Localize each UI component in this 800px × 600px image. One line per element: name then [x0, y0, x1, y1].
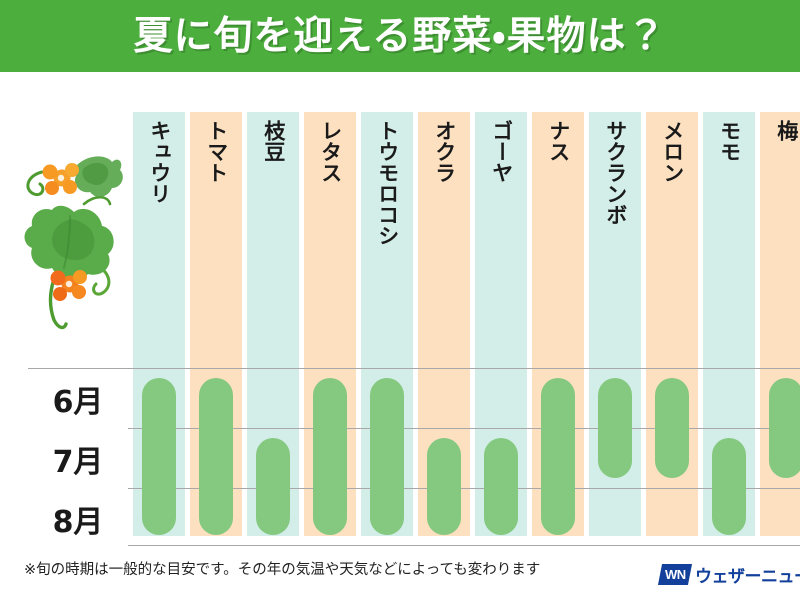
bar-momo[interactable]: [712, 438, 746, 535]
wn-logo-mark: WN: [658, 564, 692, 585]
wn-logo-initials: WN: [665, 567, 686, 582]
bar-edamame[interactable]: [256, 438, 290, 535]
page-title: 夏に旬を迎える野菜・果物は？: [0, 0, 800, 66]
bar-melon[interactable]: [655, 378, 689, 478]
column-label: ゴーヤ: [475, 120, 527, 440]
bar-lettuce[interactable]: [313, 378, 347, 535]
bar-nasu[interactable]: [541, 378, 575, 535]
infographic-page: 夏に旬を迎える野菜・果物は？: [0, 0, 800, 600]
column-label: オクラ: [418, 120, 470, 440]
bar-okra[interactable]: [427, 438, 461, 535]
header-scallop-edge: [0, 62, 800, 78]
weathernews-logo[interactable]: WN ウェザーニュース: [660, 562, 800, 587]
weathernews-logo-text: ウェザーニュース: [695, 562, 800, 587]
month-label-july: 7月: [28, 429, 128, 489]
column-label: モモ: [703, 120, 755, 440]
bar-cherry[interactable]: [598, 378, 632, 478]
month-label-august: 8月: [28, 489, 128, 549]
bar-kyuuri[interactable]: [142, 378, 176, 535]
bar-goya[interactable]: [484, 438, 518, 535]
bar-tomato[interactable]: [199, 378, 233, 535]
footnote-text: ※旬の時期は一般的な目安です。その年の気温や天気などによっても変わります: [24, 558, 540, 579]
bar-ume[interactable]: [769, 378, 800, 478]
seasonality-chart: キュウリ トマト 枝豆 レタス トウモロコシ オクラ ゴーヤ ナス サクランボ …: [0, 100, 800, 548]
month-label-june: 6月: [28, 369, 128, 429]
column-label: 枝豆: [247, 120, 299, 440]
header-banner: 夏に旬を迎える野菜・果物は？: [0, 0, 800, 72]
gridline-top: [28, 368, 800, 369]
gridline-bottom: [28, 545, 800, 546]
bar-corn[interactable]: [370, 378, 404, 535]
